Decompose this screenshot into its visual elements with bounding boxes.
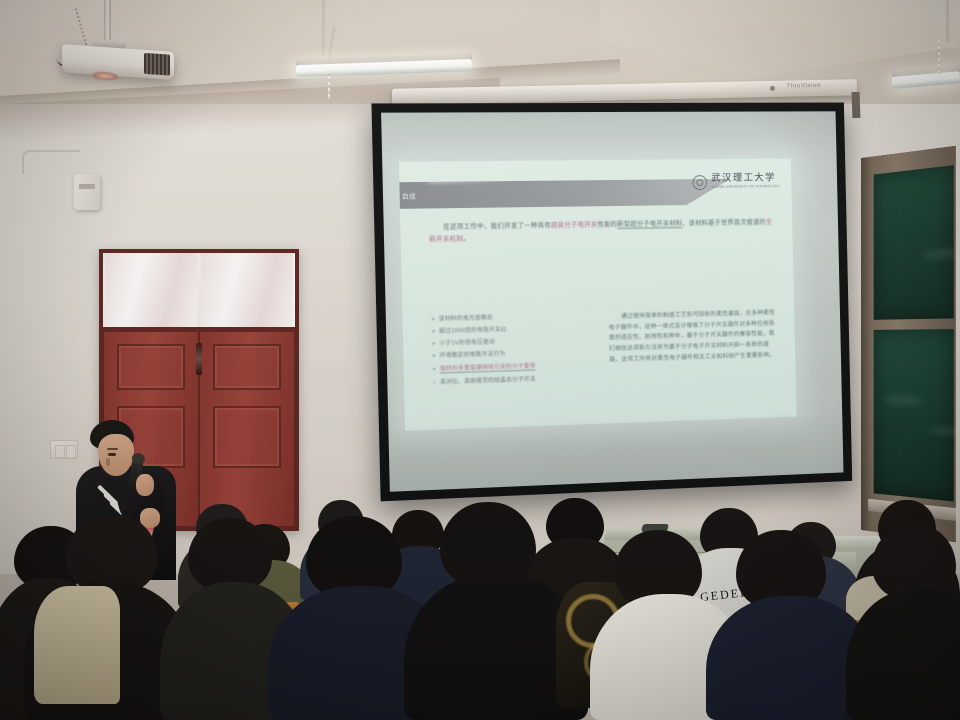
chalk-smudge xyxy=(929,426,959,436)
slide-bullet-label: 该材料的电光双稳态 xyxy=(439,315,493,323)
bullet-marker-icon: ➤ xyxy=(432,341,437,348)
door-transom-window xyxy=(103,253,295,327)
bullet-marker-icon: ➤ xyxy=(432,354,437,361)
transom-pane-right xyxy=(201,253,293,327)
wall-alarm-icon xyxy=(74,174,100,210)
chalkboard-post xyxy=(861,156,873,531)
slide-bullet-label: 超过1000倍的电阻开关比 xyxy=(439,327,507,336)
door-panel xyxy=(213,406,281,468)
slide-right-column: 通过使用简单的制造工艺和可回收的柔性基底，在多种柔性电子器件中，这种一体式设计增… xyxy=(608,308,780,386)
projector-ceiling-rod xyxy=(104,0,111,44)
presenter-eye xyxy=(108,453,116,456)
slide-bullet: ✓高对比、高耐疲劳的结晶态分子开关 xyxy=(432,375,595,387)
projected-slide: 自成 武汉理工大学 WUHAN UNIVERSITY OF TECHNOLOGY… xyxy=(399,159,797,431)
slide-right-paragraph: 通过使用简单的制造工艺和可回收的柔性基底，在多种柔性电子器件中，这种一体式设计增… xyxy=(608,308,780,366)
light-stem xyxy=(946,0,949,42)
bullet-marker-icon: ➤ xyxy=(432,366,437,374)
university-name-en: WUHAN UNIVERSITY OF TECHNOLOGY xyxy=(712,185,781,189)
alarm-conduit xyxy=(22,150,80,174)
presenter-nose xyxy=(106,458,110,466)
audience: GEDEPTLDAE xyxy=(0,490,960,720)
slide-title-banner: 自成 xyxy=(399,179,731,209)
slide-bullet: ➤独特的多重氢键网络引发的分子重排 xyxy=(432,361,596,374)
slide-bullet: ➤小于1V的低电压驱动 xyxy=(432,337,596,348)
audience-head-front xyxy=(872,524,956,600)
door-panel xyxy=(213,344,281,390)
screen-brand-dot-icon xyxy=(770,86,775,91)
banner-gloss xyxy=(427,181,508,183)
chalk-smudge xyxy=(923,248,959,261)
slide-two-columns: ➤该材料的电光双稳态➤超过1000倍的电阻开关比➤小于1V的低电压驱动➤环境稳定… xyxy=(431,308,781,392)
audience-head-front xyxy=(188,518,272,592)
slide-bullet-label: 小于1V的低电压驱动 xyxy=(439,340,495,348)
chalkboard-panel-lower xyxy=(874,329,954,501)
light-stem xyxy=(322,0,325,56)
light-pull-cord[interactable] xyxy=(328,70,330,100)
projection-screen-surface: 自成 武汉理工大学 WUHAN UNIVERSITY OF TECHNOLOGY… xyxy=(381,111,843,491)
light-pull-cord[interactable] xyxy=(938,40,940,74)
screen-wall-bracket xyxy=(852,92,861,118)
slide-bullet-label: 环境稳定的电致开关行为 xyxy=(440,352,506,361)
chalk-smudge xyxy=(883,395,923,406)
slide-bullet-column: ➤该材料的电光双稳态➤超过1000倍的电阻开关比➤小于1V的低电压驱动➤环境稳定… xyxy=(431,312,596,392)
chalkboard-panel-upper xyxy=(874,165,954,320)
university-name-block: 武汉理工大学 WUHAN UNIVERSITY OF TECHNOLOGY xyxy=(711,175,780,190)
slide-paragraph-run: 新型超分子电开关材料 xyxy=(617,220,682,229)
projector-vent-icon xyxy=(144,53,170,76)
screen-brand-label: ThruVision xyxy=(786,83,821,90)
bullet-marker-icon: ✓ xyxy=(432,380,437,387)
light-switch-plate[interactable] xyxy=(50,440,78,459)
slide-paragraph-run: 性能的 xyxy=(597,221,617,228)
bullet-marker-icon: ➤ xyxy=(431,329,436,336)
university-seal-icon xyxy=(693,175,708,190)
chalkboard xyxy=(861,146,956,543)
presenter-brow xyxy=(107,448,118,450)
door-panel xyxy=(117,344,185,390)
door-handle-icon[interactable] xyxy=(196,343,202,375)
slide-paragraph-run: 。 xyxy=(463,236,470,243)
classroom-photo: ThruVision 自成 武汉理工大学 WUHAN UNIVERSITY OF… xyxy=(0,0,960,720)
slide-body: 在这项工作中，我们开发了一种具有超高分子电开关性能的新型超分子电开关材料，该材料… xyxy=(429,217,782,419)
projection-screen: 自成 武汉理工大学 WUHAN UNIVERSITY OF TECHNOLOGY… xyxy=(371,102,852,501)
slide-title: 自成 xyxy=(402,191,417,201)
slide-bullet: ➤该材料的电光双稳态 xyxy=(431,312,595,323)
fur-vest xyxy=(34,586,120,704)
slide-bullet-label: 高对比、高耐疲劳的结晶态分子开关 xyxy=(440,376,536,386)
slide-paragraph: 在这项工作中，我们开发了一种具有超高分子电开关性能的新型超分子电开关材料，该材料… xyxy=(429,217,778,247)
transom-pane-left xyxy=(105,253,197,327)
bullet-marker-icon: ➤ xyxy=(431,316,436,323)
slide-paragraph-run: ，该材料基于世界首次报道的 xyxy=(682,219,766,227)
university-logo: 武汉理工大学 WUHAN UNIVERSITY OF TECHNOLOGY xyxy=(693,174,781,190)
university-name-cn: 武汉理工大学 xyxy=(711,175,780,185)
screen-glare-top xyxy=(381,111,836,162)
slide-paragraph-run: 在这项工作中，我们开发了一种具有 xyxy=(443,222,551,231)
slide-bullet-label: 独特的多重氢键网络引发的分子重排 xyxy=(440,363,536,374)
slide-bullet: ➤超过1000倍的电阻开关比 xyxy=(431,325,595,336)
slide-bullet: ➤环境稳定的电致开关行为 xyxy=(432,349,595,360)
slide-paragraph-run: 超高分子电开关 xyxy=(551,221,598,229)
